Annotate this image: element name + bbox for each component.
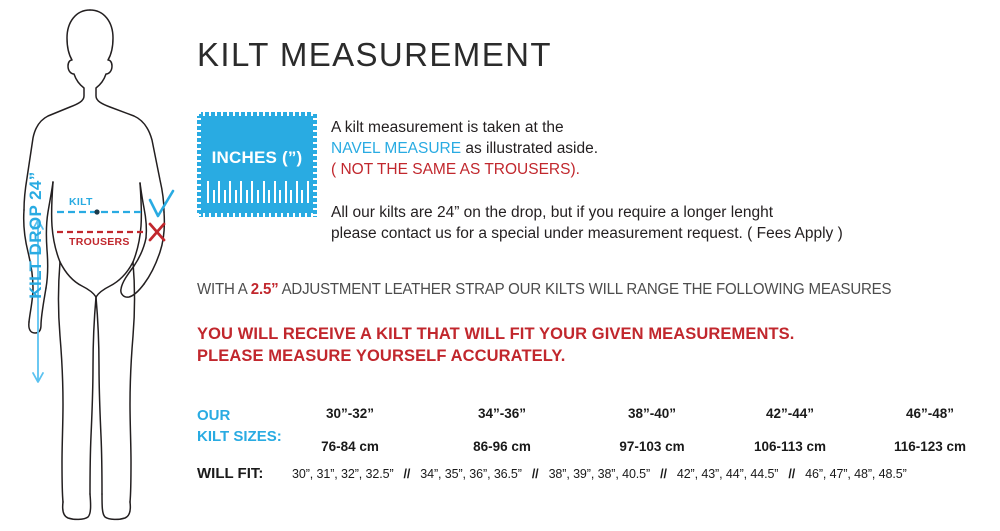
ruler-tick [257, 190, 259, 203]
kilt-size-column: 38”-40”97-103 cm [602, 406, 702, 454]
ruler-tick [301, 190, 303, 203]
will-fit-separator: // [650, 467, 677, 481]
kilt-size-column: 34”-36”86-96 cm [452, 406, 552, 454]
perforation-edge-top [197, 112, 317, 116]
kilt-size-column: 46”-48”116-123 cm [880, 406, 980, 454]
ruler-tick [235, 190, 237, 203]
sizes-label-line2: KILT SIZES: [197, 426, 282, 447]
drop-length-paragraph: All our kilts are 24” on the drop, but i… [331, 202, 843, 244]
size-cm: 116-123 cm [880, 439, 980, 454]
para2-line2: please contact us for a special under me… [331, 223, 843, 244]
size-cm: 106-113 cm [740, 439, 840, 454]
kilt-size-column: 30”-32”76-84 cm [300, 406, 400, 454]
will-fit-separator: // [394, 467, 421, 481]
page-title: KILT MEASUREMENT [197, 36, 552, 74]
sizes-label-line1: OUR [197, 405, 282, 426]
size-inches: 30”-32” [300, 406, 400, 421]
ruler-tick [274, 181, 276, 203]
inches-label: INCHES (”) [197, 148, 317, 168]
kilt-measurement-guide: KILT DROP 24” KILT TROUSERS KILT MEASURE… [0, 0, 1000, 531]
will-fit-separator: // [778, 467, 805, 481]
navel-measure-paragraph: A kilt measurement is taken at the NAVEL… [331, 117, 598, 180]
size-inches: 46”-48” [880, 406, 980, 421]
ruler-tick [296, 181, 298, 203]
ruler-tick [240, 181, 242, 203]
para1-line2: NAVEL MEASURE as illustrated aside. [331, 138, 598, 159]
ruler-tick [229, 181, 231, 203]
warning-line1: YOU WILL RECEIVE A KILT THAT WILL FIT YO… [197, 323, 794, 345]
ruler-tick [290, 190, 292, 203]
cross-mark-icon [150, 224, 164, 240]
will-fit-group: 42”, 43”, 44”, 44.5” [677, 467, 779, 481]
body-figure-illustration: KILT DROP 24” KILT TROUSERS [0, 0, 195, 531]
trousers-line-label: TROUSERS [69, 236, 130, 248]
will-fit-label: WILL FIT: [197, 465, 263, 482]
para1-line2-rest: as illustrated aside. [461, 140, 598, 157]
will-fit-group: 30”, 31”, 32”, 32.5” [292, 467, 394, 481]
size-cm: 76-84 cm [300, 439, 400, 454]
kilt-line-label: KILT [69, 196, 93, 208]
ruler-tick [279, 190, 281, 203]
warning-line2: PLEASE MEASURE YOURSELF ACCURATELY. [197, 345, 794, 367]
not-trousers-note: ( NOT THE SAME AS TROUSERS). [331, 159, 598, 180]
ruler-tick [246, 190, 248, 203]
ruler-tick [268, 190, 270, 203]
ruler-tick [307, 181, 309, 203]
inches-measure-tape-box: INCHES (”) [197, 112, 317, 217]
perforation-edge-bottom [197, 213, 317, 217]
ruler-ticks-icon [207, 179, 307, 203]
kilt-measure-line [57, 209, 145, 214]
size-cm: 97-103 cm [602, 439, 702, 454]
ruler-tick [218, 181, 220, 203]
kilt-sizes-row-label: OUR KILT SIZES: [197, 405, 282, 447]
ruler-tick [285, 181, 287, 203]
check-mark-icon [150, 191, 173, 216]
adjustment-strap-line: WITH A 2.5” ADJUSTMENT LEATHER STRAP OUR… [197, 281, 891, 299]
ruler-tick [263, 181, 265, 203]
strap-highlight: 2.5” [251, 281, 279, 298]
strap-before: WITH A [197, 281, 251, 298]
will-fit-separator: // [522, 467, 549, 481]
ruler-tick [213, 190, 215, 203]
para2-line1: All our kilts are 24” on the drop, but i… [331, 202, 843, 223]
size-inches: 42”-44” [740, 406, 840, 421]
size-inches: 34”-36” [452, 406, 552, 421]
kilt-size-column: 42”-44”106-113 cm [740, 406, 840, 454]
size-inches: 38”-40” [602, 406, 702, 421]
ruler-tick [224, 190, 226, 203]
para1-line1: A kilt measurement is taken at the [331, 117, 598, 138]
size-cm: 86-96 cm [452, 439, 552, 454]
ruler-tick [251, 181, 253, 203]
accuracy-warning: YOU WILL RECEIVE A KILT THAT WILL FIT YO… [197, 323, 794, 367]
kilt-drop-label: KILT DROP 24” [26, 155, 46, 315]
will-fit-group: 34”, 35”, 36”, 36.5” [420, 467, 522, 481]
will-fit-group: 38”, 39”, 38”, 40.5” [549, 467, 651, 481]
will-fit-group: 46”, 47”, 48”, 48.5” [805, 467, 907, 481]
ruler-tick [207, 181, 209, 203]
will-fit-values: 30”, 31”, 32”, 32.5”//34”, 35”, 36”, 36.… [292, 467, 907, 481]
strap-after: ADJUSTMENT LEATHER STRAP OUR KILTS WILL … [278, 281, 891, 298]
navel-measure-highlight: NAVEL MEASURE [331, 140, 461, 157]
